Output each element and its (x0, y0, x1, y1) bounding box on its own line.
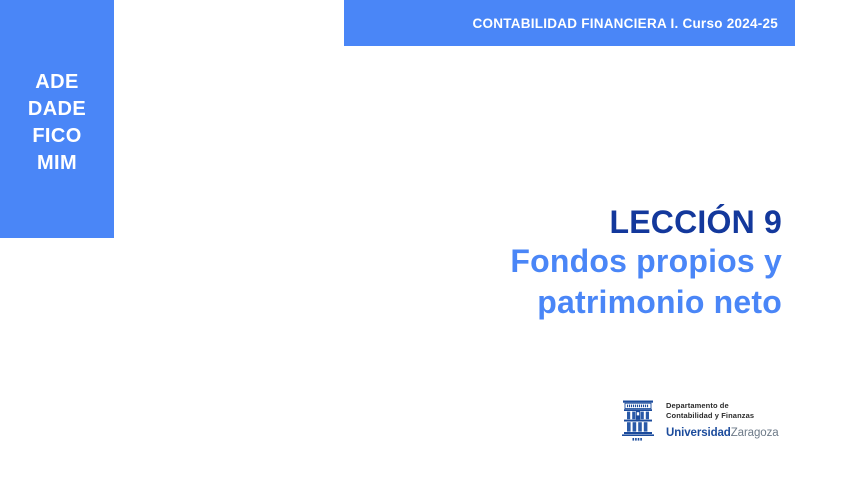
logo-text-block: Departamento de Contabilidad y Finanzas … (666, 401, 779, 441)
lesson-number: LECCIÓN 9 (262, 203, 782, 241)
sidebar-degree-block: ADE DADE FICO MIM (0, 0, 114, 238)
logo-university-word: Universidad (666, 427, 731, 439)
lesson-title-block: LECCIÓN 9 Fondos propios y patrimonio ne… (262, 203, 782, 323)
department-logo: Departamento de Contabilidad y Finanzas … (620, 398, 779, 444)
course-header-text: CONTABILIDAD FINANCIERA I. Curso 2024-25 (472, 16, 778, 31)
sidebar-item-dade: DADE (28, 96, 86, 123)
logo-university-row: UniversidadZaragoza (666, 423, 779, 441)
lesson-subtitle-line-2: patrimonio neto (262, 282, 782, 323)
sidebar-item-mim: MIM (37, 150, 77, 177)
logo-department-line-1: Departamento de (666, 401, 779, 411)
logo-department-line-2: Contabilidad y Finanzas (666, 411, 779, 421)
course-header-banner: CONTABILIDAD FINANCIERA I. Curso 2024-25 (344, 0, 795, 46)
logo-zaragoza-word: Zaragoza (731, 427, 779, 439)
lesson-subtitle-line-1: Fondos propios y (262, 241, 782, 282)
university-building-emblem-icon (620, 398, 656, 444)
sidebar-item-fico: FICO (32, 123, 81, 150)
sidebar-item-ade: ADE (35, 69, 78, 96)
slide-canvas: ADE DADE FICO MIM CONTABILIDAD FINANCIER… (0, 0, 848, 477)
